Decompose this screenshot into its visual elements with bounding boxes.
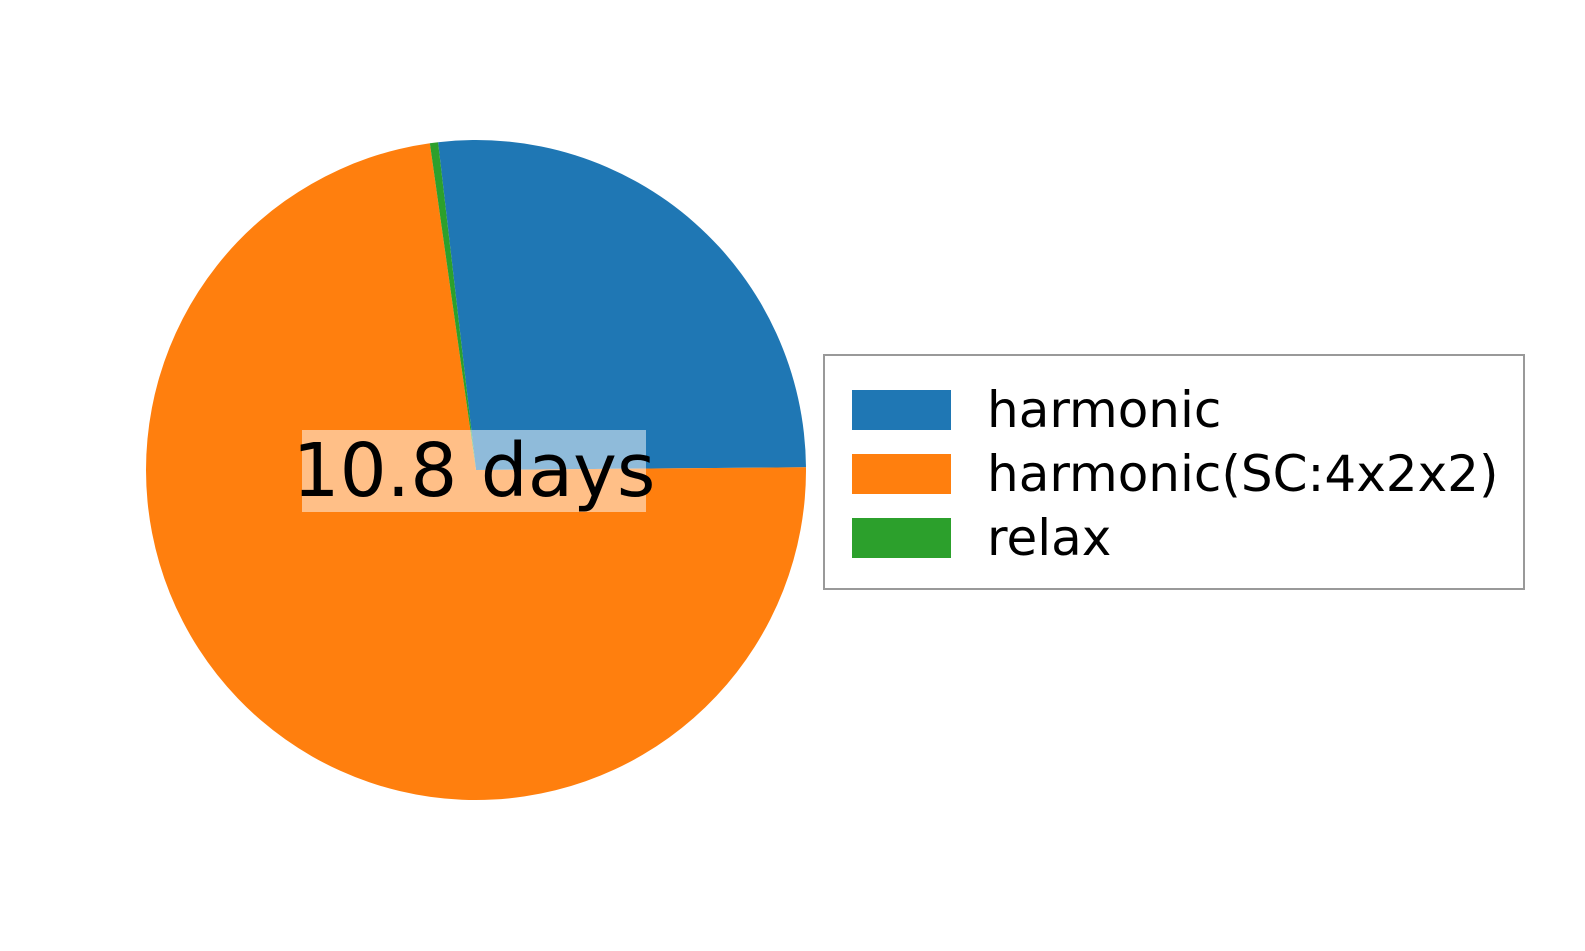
legend-label-relax: relax — [987, 513, 1111, 563]
legend-label-harmonic: harmonic — [987, 385, 1221, 435]
legend-item-harmonic-sc[interactable]: harmonic(SC:4x2x2) — [825, 442, 1523, 506]
legend-swatch-harmonic-sc — [852, 454, 951, 494]
legend-swatch-harmonic — [852, 390, 951, 430]
chart-legend: harmonic harmonic(SC:4x2x2) relax — [823, 354, 1525, 590]
legend-label-harmonic-sc: harmonic(SC:4x2x2) — [987, 449, 1499, 499]
pie-center-label-text: 10.8 days — [293, 434, 656, 508]
pie-chart-figure: 10.8 days harmonic harmonic(SC:4x2x2) re… — [0, 0, 1585, 951]
pie-center-label: 10.8 days — [302, 430, 646, 512]
legend-item-harmonic[interactable]: harmonic — [825, 378, 1523, 442]
pie-slice-harmonic[interactable] — [438, 140, 806, 470]
legend-item-relax[interactable]: relax — [825, 506, 1523, 570]
legend-swatch-relax — [852, 518, 951, 558]
